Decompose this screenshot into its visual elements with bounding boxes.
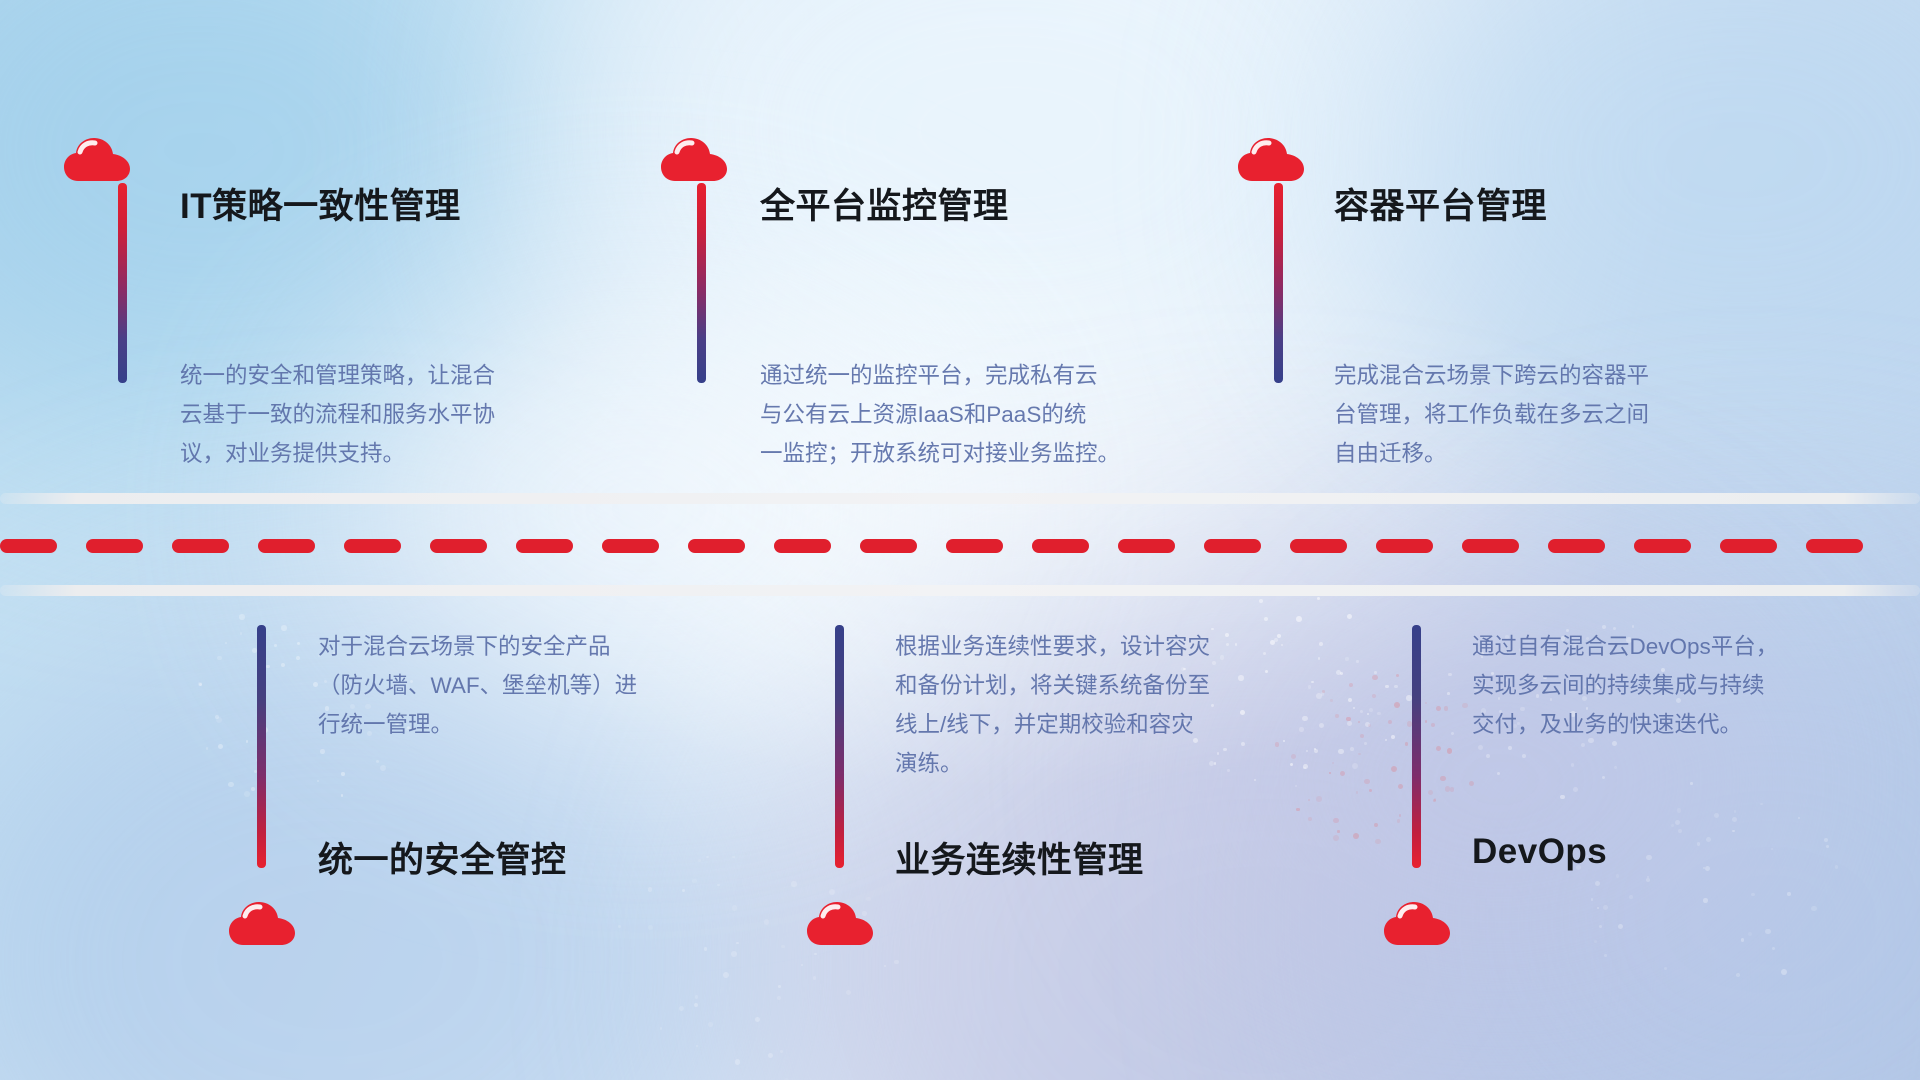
bokeh-dot bbox=[239, 614, 244, 619]
divider-dash bbox=[1290, 539, 1347, 553]
bokeh-dot bbox=[1604, 954, 1607, 957]
bokeh-dot bbox=[1741, 938, 1745, 942]
bokeh-dot bbox=[1428, 790, 1433, 795]
divider-dash bbox=[86, 539, 143, 553]
column-heading: DevOps bbox=[1472, 832, 1607, 872]
bokeh-dot bbox=[1748, 932, 1752, 936]
bokeh-dot bbox=[1356, 791, 1358, 793]
divider-dash bbox=[1118, 539, 1175, 553]
divider-dash bbox=[1806, 539, 1863, 553]
bokeh-dot bbox=[704, 947, 708, 951]
column-body: 完成混合云场景下跨云的容器平 台管理，将工作负载在多云之间 自由迁移。 bbox=[1334, 356, 1764, 473]
bokeh-dot bbox=[1436, 706, 1441, 711]
bokeh-dot bbox=[1405, 742, 1408, 745]
column-heading: 统一的安全管控 bbox=[318, 832, 567, 883]
bokeh-dot bbox=[1448, 673, 1451, 676]
bokeh-dot bbox=[1447, 692, 1450, 695]
column-body: 通过统一的监控平台，完成私有云 与公有云上资源IaaS和PaaS的统 一监控；开… bbox=[760, 356, 1210, 473]
bokeh-dot bbox=[866, 897, 871, 902]
divider-dash bbox=[860, 539, 917, 553]
column-stem bbox=[118, 183, 127, 383]
infographic-canvas: IT策略一致性管理 统一的安全和管理策略，让混合 云基于一致的流程和服务水平协 … bbox=[0, 0, 1920, 1080]
bokeh-dot bbox=[198, 682, 202, 686]
bokeh-dot bbox=[1445, 786, 1450, 791]
bokeh-dot bbox=[1602, 776, 1605, 779]
bokeh-dot bbox=[1826, 845, 1829, 848]
bokeh-dot bbox=[1736, 973, 1740, 977]
divider-dash bbox=[688, 539, 745, 553]
bokeh-dot bbox=[1295, 785, 1297, 787]
column-stem bbox=[257, 625, 266, 868]
bokeh-dot bbox=[755, 1017, 760, 1022]
column-stem bbox=[697, 183, 706, 383]
bokeh-dot bbox=[1329, 772, 1331, 774]
bokeh-dot bbox=[1629, 895, 1633, 899]
bokeh-dot bbox=[1772, 947, 1775, 950]
bokeh-dot bbox=[1425, 720, 1428, 723]
bokeh-dot bbox=[1603, 905, 1608, 910]
bokeh-dot bbox=[1337, 830, 1340, 833]
bokeh-dot bbox=[1497, 772, 1500, 775]
top-rule bbox=[0, 493, 1920, 504]
bokeh-dot bbox=[735, 1059, 740, 1064]
bokeh-dot bbox=[1595, 881, 1600, 886]
column-body: 通过自有混合云DevOps平台， 实现多云间的持续集成与持续 交付，及业务的快速… bbox=[1472, 627, 1892, 744]
divider-dash bbox=[946, 539, 1003, 553]
bokeh-dot bbox=[1347, 721, 1352, 726]
divider-dash bbox=[602, 539, 659, 553]
bokeh-dot bbox=[1358, 721, 1360, 723]
column-heading: 业务连续性管理 bbox=[895, 832, 1144, 883]
bokeh-dot bbox=[1333, 835, 1339, 841]
bokeh-dot bbox=[1478, 745, 1483, 750]
bokeh-dot bbox=[240, 632, 242, 634]
bokeh-dot bbox=[1346, 717, 1351, 722]
bokeh-dot bbox=[780, 1050, 783, 1053]
column-body: 对于混合云场景下的安全产品 （防火墙、WAF、堡垒机等）进 行统一管理。 bbox=[318, 627, 738, 744]
column-stem bbox=[1274, 183, 1283, 383]
bokeh-dot bbox=[1358, 753, 1360, 755]
bokeh-dot bbox=[1571, 763, 1575, 767]
bokeh-dot bbox=[1469, 781, 1474, 786]
column-stem bbox=[835, 625, 844, 868]
bokeh-dot bbox=[313, 682, 318, 687]
bokeh-dot bbox=[1394, 702, 1400, 708]
bokeh-dot bbox=[1308, 799, 1310, 801]
bokeh-dot bbox=[1396, 674, 1399, 677]
divider-dash bbox=[1548, 539, 1605, 553]
bokeh-dot bbox=[380, 765, 386, 771]
bokeh-dot bbox=[1444, 706, 1449, 711]
bokeh-dot bbox=[274, 644, 277, 647]
divider-dash bbox=[258, 539, 315, 553]
divider-dash bbox=[0, 539, 57, 553]
divider-dash bbox=[344, 539, 401, 553]
column-body: 根据业务连续性要求，设计容灾 和备份计划，将关键系统备份至 线上/线下，并定期校… bbox=[895, 627, 1325, 783]
bokeh-dot bbox=[698, 859, 701, 862]
bokeh-dot bbox=[778, 985, 781, 988]
bokeh-dot bbox=[251, 787, 255, 791]
divider-dash bbox=[1204, 539, 1261, 553]
bokeh-dot bbox=[244, 791, 250, 797]
bokeh-dot bbox=[1348, 698, 1352, 702]
divider-dash bbox=[1376, 539, 1433, 553]
divider-dash bbox=[1032, 539, 1089, 553]
bokeh-dot bbox=[696, 1045, 698, 1047]
bokeh-dot bbox=[1356, 660, 1358, 662]
bokeh-dot bbox=[1388, 720, 1392, 724]
bokeh-dot bbox=[781, 945, 784, 948]
bokeh-dot bbox=[1391, 735, 1395, 739]
bokeh-dot bbox=[1811, 906, 1816, 911]
divider-dash bbox=[1720, 539, 1777, 553]
divider-dash bbox=[516, 539, 573, 553]
bokeh-dot bbox=[266, 665, 269, 668]
bokeh-dot bbox=[764, 919, 770, 925]
bokeh-dot bbox=[1646, 878, 1650, 882]
bokeh-dot bbox=[1349, 683, 1353, 687]
bokeh-dot bbox=[1781, 969, 1787, 975]
bokeh-dot bbox=[1522, 754, 1526, 758]
bottom-rule bbox=[0, 585, 1920, 596]
bokeh-dot bbox=[791, 881, 796, 886]
column-heading: 容器平台管理 bbox=[1334, 178, 1547, 229]
bokeh-dot bbox=[1425, 702, 1427, 704]
column-heading: 全平台监控管理 bbox=[760, 178, 1009, 229]
column-heading: IT策略一致性管理 bbox=[180, 178, 461, 229]
bokeh-dot bbox=[1560, 795, 1565, 800]
bokeh-dot bbox=[1399, 814, 1401, 816]
dashed-divider bbox=[0, 539, 1920, 553]
bokeh-dot bbox=[1385, 685, 1388, 688]
bokeh-dot bbox=[1706, 837, 1711, 842]
bokeh-dot bbox=[1765, 929, 1771, 935]
bokeh-dot bbox=[1450, 787, 1454, 791]
bokeh-dot bbox=[1690, 782, 1692, 784]
bokeh-dot bbox=[1599, 925, 1602, 928]
bokeh-dot bbox=[1338, 749, 1343, 754]
divider-dash bbox=[774, 539, 831, 553]
bokeh-dot bbox=[341, 772, 344, 775]
bokeh-dot bbox=[706, 856, 708, 858]
bokeh-dot bbox=[320, 749, 325, 754]
bokeh-dot bbox=[1353, 833, 1359, 839]
bokeh-dot bbox=[1787, 892, 1790, 895]
bokeh-dot bbox=[1703, 898, 1707, 902]
bokeh-dot bbox=[694, 1003, 698, 1007]
divider-dash bbox=[1462, 539, 1519, 553]
bokeh-dot bbox=[708, 1022, 712, 1026]
bokeh-dot bbox=[648, 887, 653, 892]
bokeh-dot bbox=[1296, 616, 1302, 622]
bokeh-dot bbox=[1771, 848, 1773, 850]
column-body: 统一的安全和管理策略，让混合 云基于一致的流程和服务水平协 议，对业务提供支持。 bbox=[180, 356, 610, 473]
bokeh-dot bbox=[1316, 796, 1322, 802]
bokeh-dot bbox=[695, 995, 699, 999]
divider-dash bbox=[430, 539, 487, 553]
bokeh-dot bbox=[1732, 830, 1734, 832]
bokeh-dot bbox=[1375, 839, 1381, 845]
bokeh-dot bbox=[1374, 671, 1377, 674]
bokeh-dot bbox=[1573, 787, 1578, 792]
divider-dash bbox=[172, 539, 229, 553]
bokeh-dot bbox=[1352, 763, 1358, 769]
column-stem bbox=[1412, 625, 1421, 868]
bokeh-dot bbox=[1646, 855, 1652, 861]
bokeh-dot bbox=[1347, 614, 1352, 619]
bokeh-dot bbox=[682, 889, 685, 892]
bokeh-dot bbox=[216, 717, 222, 723]
bokeh-dot bbox=[1732, 817, 1737, 822]
bokeh-dot bbox=[1345, 657, 1348, 660]
bokeh-dot bbox=[648, 925, 653, 930]
bokeh-dot bbox=[281, 625, 286, 630]
bokeh-dot bbox=[1364, 779, 1370, 785]
bokeh-dot bbox=[1508, 746, 1512, 750]
bokeh-dot bbox=[341, 794, 344, 797]
divider-dash bbox=[1634, 539, 1691, 553]
bokeh-dot bbox=[1697, 842, 1700, 845]
bokeh-dot bbox=[1397, 819, 1400, 822]
bokeh-dot bbox=[717, 884, 720, 887]
bokeh-dot bbox=[1835, 865, 1838, 868]
bokeh-dot bbox=[1675, 820, 1680, 825]
bokeh-dot bbox=[1360, 710, 1363, 713]
bokeh-dot bbox=[723, 972, 729, 978]
bokeh-dot bbox=[732, 905, 738, 911]
bokeh-dot bbox=[731, 951, 737, 957]
bokeh-dot bbox=[1317, 597, 1320, 600]
